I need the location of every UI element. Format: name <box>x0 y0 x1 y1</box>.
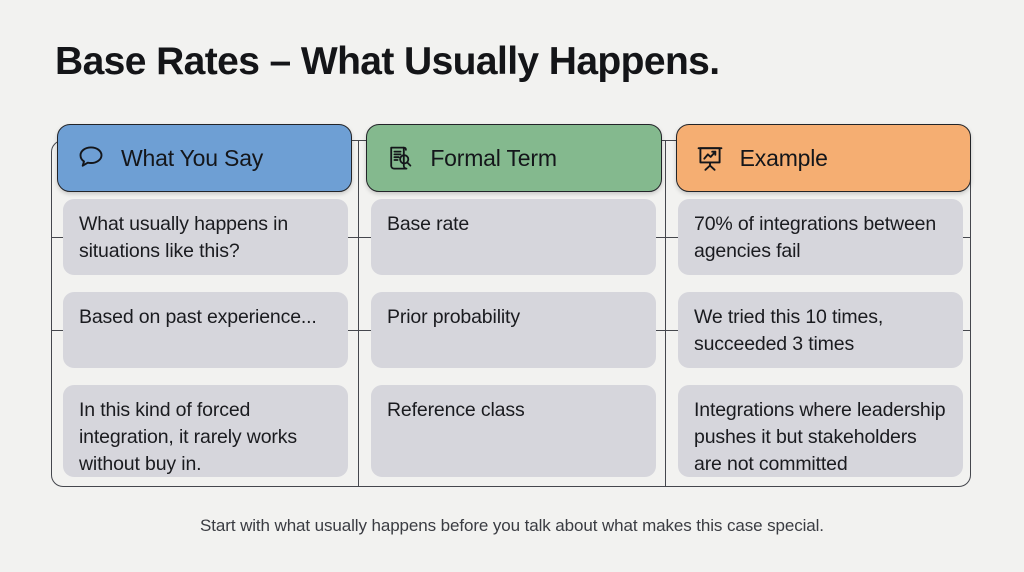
speech-bubble-icon <box>74 141 108 175</box>
cell-what-you-say-2: Based on past experience... <box>63 292 348 368</box>
cell-formal-term-1: Base rate <box>371 199 656 275</box>
slide-canvas: Base Rates – What Usually Happens. What … <box>0 0 1024 572</box>
cell-example-2: We tried this 10 times, succeeded 3 time… <box>678 292 963 368</box>
cell-formal-term-2: Prior probability <box>371 292 656 368</box>
header-example[interactable]: Example <box>676 124 971 192</box>
cell-what-you-say-3: In this kind of forced integration, it r… <box>63 385 348 477</box>
cell-example-1: 70% of integrations between agencies fai… <box>678 199 963 275</box>
header-label-formal-term: Formal Term <box>430 145 556 172</box>
header-label-example: Example <box>740 145 828 172</box>
table-header-row: What You Say Formal Term <box>57 124 971 194</box>
header-what-you-say[interactable]: What You Say <box>57 124 352 192</box>
cell-what-you-say-1: What usually happens in situations like … <box>63 199 348 275</box>
header-formal-term[interactable]: Formal Term <box>366 124 661 192</box>
cell-example-3: Integrations where leadership pushes it … <box>678 385 963 477</box>
footer-caption: Start with what usually happens before y… <box>0 516 1024 536</box>
header-label-what-you-say: What You Say <box>121 145 263 172</box>
presentation-chart-icon <box>693 141 727 175</box>
cell-formal-term-3: Reference class <box>371 385 656 477</box>
page-title: Base Rates – What Usually Happens. <box>55 40 720 84</box>
document-magnifier-icon <box>383 141 417 175</box>
